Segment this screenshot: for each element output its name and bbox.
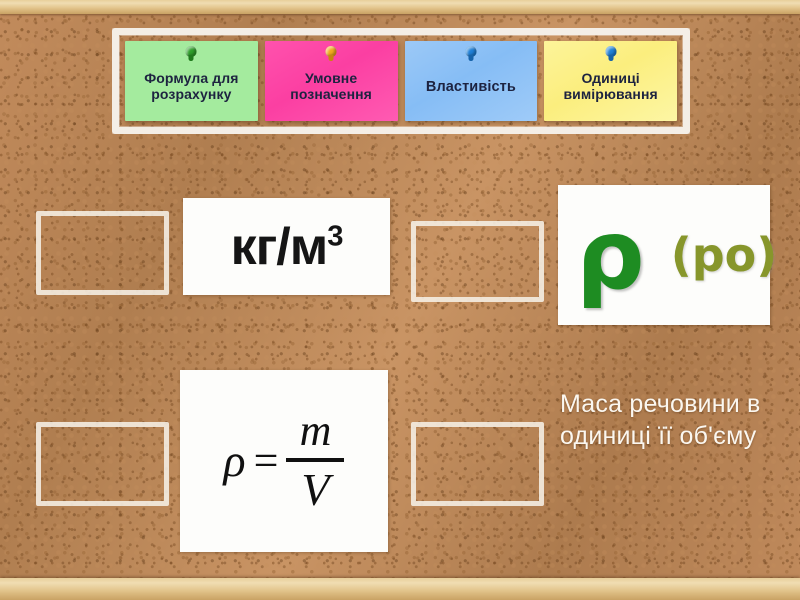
frame-bottom-edge — [0, 578, 800, 600]
definition-text[interactable]: Маса речовини в одиниці її об'єму — [560, 388, 790, 452]
category-note-formula-label: Формула для розрахунку — [129, 71, 254, 102]
category-note-symbol[interactable]: Умовне позначення — [265, 41, 398, 121]
cork-board: Формула для розрахунку Умовне позначення… — [0, 0, 800, 600]
formula-lhs: ρ — [224, 438, 246, 484]
card-symbol[interactable]: ρ (ро) — [558, 185, 770, 325]
density-formula: ρ = m V — [224, 409, 345, 513]
card-units[interactable]: кг/м3 — [183, 198, 390, 295]
category-note-formula[interactable]: Формула для розрахунку — [125, 41, 258, 121]
drop-zone-formula-left[interactable] — [36, 422, 169, 506]
formula-fraction: m V — [286, 409, 344, 513]
drop-zone-units-left[interactable] — [36, 211, 169, 295]
card-formula[interactable]: ρ = m V — [180, 370, 388, 552]
category-note-units-label: Одиниці вимірювання — [548, 71, 673, 102]
card-units-text: кг/м3 — [231, 221, 343, 273]
orange-pushpin-icon — [325, 46, 338, 61]
category-notes-row: Формула для розрахунку Умовне позначення… — [125, 41, 677, 121]
rho-reading-label: (ро) — [671, 232, 778, 278]
category-note-symbol-label: Умовне позначення — [269, 71, 394, 102]
category-note-property-label: Властивість — [426, 79, 516, 95]
category-note-units[interactable]: Одиниці вимірювання — [544, 41, 677, 121]
formula-numerator: m — [300, 409, 332, 455]
rho-glyph: ρ — [576, 216, 645, 295]
formula-equals: = — [252, 439, 281, 483]
green-pushpin-icon — [185, 46, 198, 61]
drop-zone-definition-left[interactable] — [411, 422, 544, 506]
frame-top-edge — [0, 0, 800, 14]
drop-zone-symbol-left[interactable] — [411, 221, 544, 302]
category-note-property[interactable]: Властивість — [405, 41, 538, 121]
blue-pushpin-icon — [464, 46, 477, 61]
formula-denominator: V — [301, 465, 329, 513]
blue-pushpin-icon — [604, 46, 617, 61]
fraction-bar-icon — [286, 458, 344, 462]
category-legend-strip: Формула для розрахунку Умовне позначення… — [112, 28, 690, 134]
